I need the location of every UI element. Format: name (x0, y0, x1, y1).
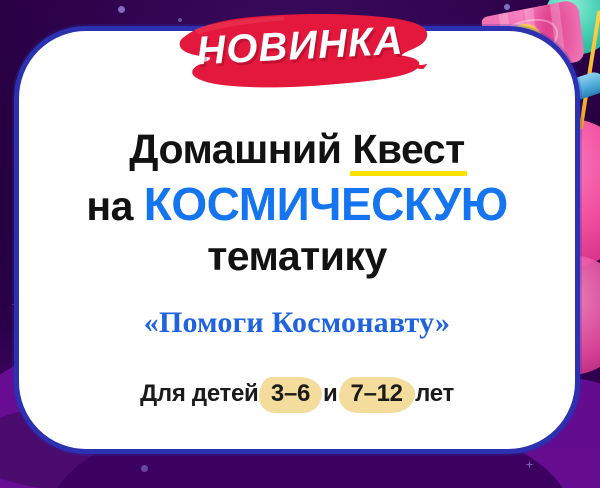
new-badge-label: НОВИНКА (163, 0, 437, 96)
headline-line-1-underlined: Квест (352, 127, 464, 173)
age-suffix: лет (415, 380, 454, 407)
age-range-line: Для детей 3–6и7–12 лет (19, 380, 575, 408)
headline-line-1: Домашний Квест (19, 127, 575, 173)
new-badge: НОВИНКА (164, 1, 437, 96)
headline-line-2-prefix: на (86, 183, 143, 229)
quest-subtitle: «Помоги Космонавту» (19, 306, 575, 340)
star-icon (118, 6, 125, 13)
star-icon (504, 4, 510, 10)
star-icon (141, 465, 148, 472)
promo-banner: Домашний Квест на КОСМИЧЕСКУЮ тематику «… (0, 0, 600, 488)
age-prefix: Для детей (140, 380, 258, 407)
age-conjunction: и (323, 380, 337, 407)
headline-line-2-accent: КОСМИЧЕСКУЮ (144, 178, 508, 230)
content-card-inner: Домашний Квест на КОСМИЧЕСКУЮ тематику «… (19, 31, 575, 449)
headline-line-1-plain: Домашний (129, 126, 352, 172)
headline-line-2: на КОСМИЧЕСКУЮ (19, 177, 575, 231)
age-range-first: 3–6 (265, 380, 316, 408)
headline-line-3: тематику (19, 233, 575, 280)
age-range-second: 7–12 (345, 380, 409, 408)
headline-block: Домашний Квест на КОСМИЧЕСКУЮ тематику «… (19, 127, 575, 408)
